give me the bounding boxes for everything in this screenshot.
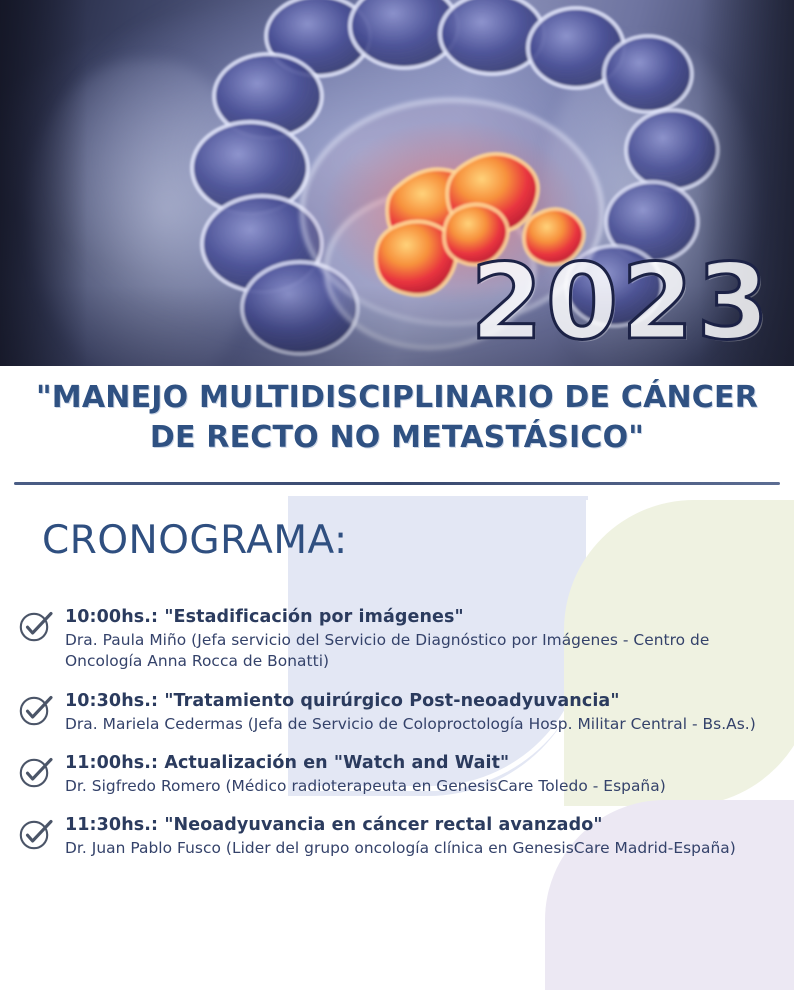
schedule-entry: 10:00hs.: "Estadificación por imágenes" … <box>18 606 788 673</box>
schedule-entry-speaker: Dr. Juan Pablo Fusco (Lider del grupo on… <box>65 838 788 859</box>
page-title: "MANEJO MULTIDISCIPLINARIO DE CÁNCER DE … <box>0 378 794 458</box>
schedule-entry: 11:00hs.: Actualización en "Watch and Wa… <box>18 752 788 797</box>
year-label: 2023 <box>471 250 772 354</box>
schedule-entry-speaker: Dra. Mariela Cedermas (Jefa de Servicio … <box>65 714 788 735</box>
schedule-entry: 11:30hs.: "Neoadyuvancia en cáncer recta… <box>18 814 788 859</box>
schedule-entry-title: 11:30hs.: "Neoadyuvancia en cáncer recta… <box>65 814 788 837</box>
schedule-entry-title: 10:00hs.: "Estadificación por imágenes" <box>65 606 788 629</box>
check-circle-icon <box>18 609 54 643</box>
check-circle-icon <box>18 755 54 789</box>
title-line-1: "MANEJO MULTIDISCIPLINARIO DE CÁNCER <box>0 378 794 418</box>
schedule-entry: 10:30hs.: "Tratamiento quirúrgico Post-n… <box>18 690 788 735</box>
section-heading-cronograma: CRONOGRAMA: <box>42 518 348 563</box>
schedule-list: 10:00hs.: "Estadificación por imágenes" … <box>18 606 788 877</box>
schedule-entry-speaker: Dr. Sigfredo Romero (Médico radioterapeu… <box>65 776 788 797</box>
schedule-entry-title: 11:00hs.: Actualización en "Watch and Wa… <box>65 752 788 775</box>
title-line-2: DE RECTO NO METASTÁSICO" <box>0 418 794 458</box>
hero-medical-illustration: 2023 <box>0 0 794 366</box>
check-circle-icon <box>18 817 54 851</box>
schedule-entry-title: 10:30hs.: "Tratamiento quirúrgico Post-n… <box>65 690 788 713</box>
title-divider <box>14 482 780 485</box>
schedule-entry-speaker: Dra. Paula Miño (Jefa servicio del Servi… <box>65 630 788 673</box>
check-circle-icon <box>18 693 54 727</box>
